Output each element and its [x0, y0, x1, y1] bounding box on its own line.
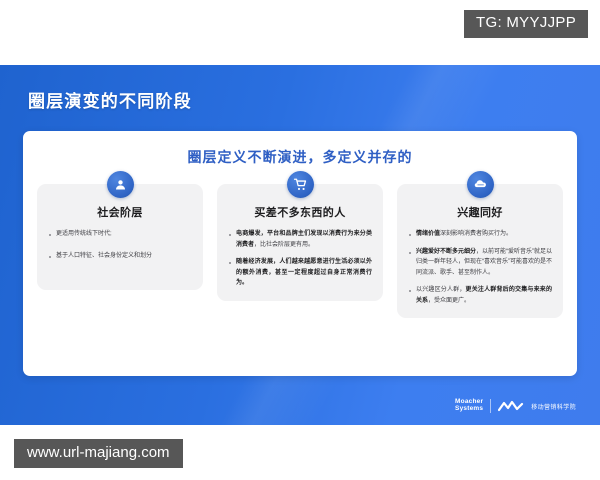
shopping-cart-icon [287, 171, 314, 198]
card-interest-peers: 兴趣同好 情绪价值深刻影响消费者购买行为。 兴趣爱好不断多元细分，以前可能“爱听… [397, 184, 563, 318]
bullet-text: 以兴趣区分人群， [416, 287, 466, 293]
slide-title: 圈层演变的不同阶段 [28, 87, 192, 112]
list-item: 情绪价值深刻影响消费者购买行为。 [408, 229, 552, 240]
card-similar-buyers: 买差不多东西的人 电商爆发，平台和品牌主们发现以消费行为来分类消费者，比社会阶层… [217, 184, 383, 301]
list-item: 基于人口特征、社会身份定义和划分 [48, 251, 192, 262]
columns-container: 社会阶层 更适用传统线下时代; 基于人口特征、社会身份定义和划分 [37, 171, 563, 318]
bullet-text: 深刻影响消费者购买行为。 [440, 231, 512, 237]
card-title: 兴趣同好 [408, 204, 552, 220]
cloud-heart-icon [467, 171, 494, 198]
bullet-text: ，比社会阶层更有用。 [254, 242, 314, 248]
bullet-text: 更适用传统线下时代; [56, 231, 112, 237]
user-icon [107, 171, 134, 198]
bullet-list: 电商爆发，平台和品牌主们发现以消费行为来分类消费者，比社会阶层更有用。 随着经济… [228, 229, 372, 289]
column-social-class: 社会阶层 更适用传统线下时代; 基于人口特征、社会身份定义和划分 [37, 171, 203, 318]
bullet-list: 更适用传统线下时代; 基于人口特征、社会身份定义和划分 [48, 229, 192, 261]
logo-text-chinese: 移动营销科学院 [531, 402, 576, 411]
mountain-wave-icon [498, 400, 524, 412]
bullet-lead: 随着经济发展，人们越来越愿意进行生活必须以外的额外消费，甚至一定程度超过自身正常… [236, 259, 372, 286]
url-watermark-tag: www.url-majiang.com [14, 439, 183, 469]
list-item: 电商爆发，平台和品牌主们发现以消费行为来分类消费者，比社会阶层更有用。 [228, 229, 372, 250]
bullet-lead: 兴趣爱好不断多元细分 [416, 249, 476, 255]
logo-wordmark: Moacher Systems [455, 399, 483, 413]
list-item: 随着经济发展，人们越来越愿意进行生活必须以外的额外消费，甚至一定程度超过自身正常… [228, 257, 372, 289]
bullet-text: 基于人口特征、社会身份定义和划分 [56, 253, 152, 259]
column-interest-peers: 兴趣同好 情绪价值深刻影响消费者购买行为。 兴趣爱好不断多元细分，以前可能“爱听… [397, 171, 563, 318]
list-item: 更适用传统线下时代; [48, 229, 192, 240]
footer-logo: Moacher Systems 移动营销科学院 [455, 399, 576, 413]
column-similar-buyers: 买差不多东西的人 电商爆发，平台和品牌主们发现以消费行为来分类消费者，比社会阶层… [217, 171, 383, 318]
panel-heading: 圈层定义不断演进，多定义并存的 [23, 147, 577, 167]
logo-wordmark-line2: Systems [455, 406, 483, 413]
bullet-lead: 情绪价值 [416, 231, 440, 237]
list-item: 以兴趣区分人群，更关注人群背后的交集与来来的关系，受众面更广。 [408, 285, 552, 306]
card-title: 社会阶层 [48, 204, 192, 220]
logo-divider [490, 399, 491, 413]
telegram-watermark-tag: TG: MYYJJPP [464, 10, 588, 38]
card-social-class: 社会阶层 更适用传统线下时代; 基于人口特征、社会身份定义和划分 [37, 184, 203, 290]
bullet-list: 情绪价值深刻影响消费者购买行为。 兴趣爱好不断多元细分，以前可能“爱听音乐”就足… [408, 229, 552, 306]
content-panel: 圈层定义不断演进，多定义并存的 社会阶层 更适用传统线下时代; 基于人口特征、社… [23, 131, 577, 376]
bullet-text: ，受众面更广。 [428, 298, 470, 304]
presentation-slide: 圈层演变的不同阶段 圈层定义不断演进，多定义并存的 社会阶层 更适用传统线下时代… [0, 65, 600, 425]
card-title: 买差不多东西的人 [228, 204, 372, 220]
list-item: 兴趣爱好不断多元细分，以前可能“爱听音乐”就足以归类一群年轻人，但现在“喜欢音乐… [408, 247, 552, 279]
